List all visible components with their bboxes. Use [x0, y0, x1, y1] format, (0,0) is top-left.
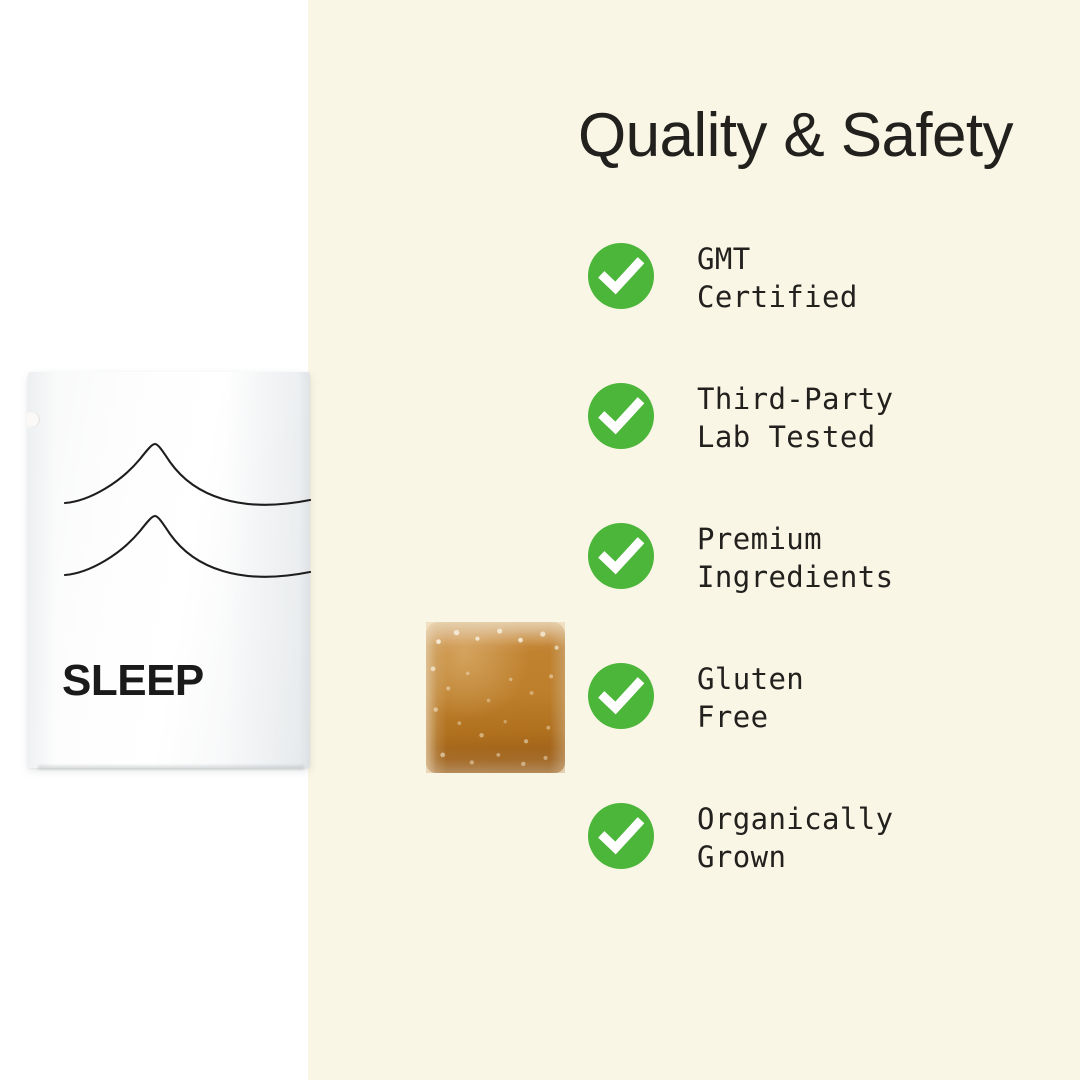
list-item-label: Premium Ingredients [697, 520, 893, 596]
check-circle-icon [588, 383, 654, 449]
quality-safety-panel: Quality & Safety GMT Certified [308, 0, 1080, 1080]
quality-checklist: GMT Certified Third-Party Lab Tested [588, 242, 1058, 942]
package-wave-artwork [28, 372, 310, 768]
list-item-label: Organically Grown [697, 800, 893, 876]
check-circle-icon [588, 523, 654, 589]
page-title: Quality & Safety [578, 103, 1013, 168]
package-bottom-seal [38, 764, 304, 770]
list-item-label: GMT Certified [697, 240, 858, 316]
list-item[interactable]: Premium Ingredients [588, 522, 1058, 662]
list-item-label: Third-Party Lab Tested [697, 380, 893, 456]
list-item[interactable]: Organically Grown [588, 802, 1058, 942]
package-product-name: SLEEP [62, 659, 204, 703]
check-circle-icon [588, 803, 654, 869]
check-circle-icon [588, 243, 654, 309]
list-item-label: Gluten Free [697, 660, 804, 736]
list-item[interactable]: GMT Certified [588, 242, 1058, 382]
list-item[interactable]: Gluten Free [588, 662, 1058, 802]
list-item[interactable]: Third-Party Lab Tested [588, 382, 1058, 522]
check-circle-icon [588, 663, 654, 729]
poster-canvas: SLEEP Quality & Safety GMT Certified [0, 0, 1080, 1080]
product-package[interactable] [28, 372, 310, 768]
